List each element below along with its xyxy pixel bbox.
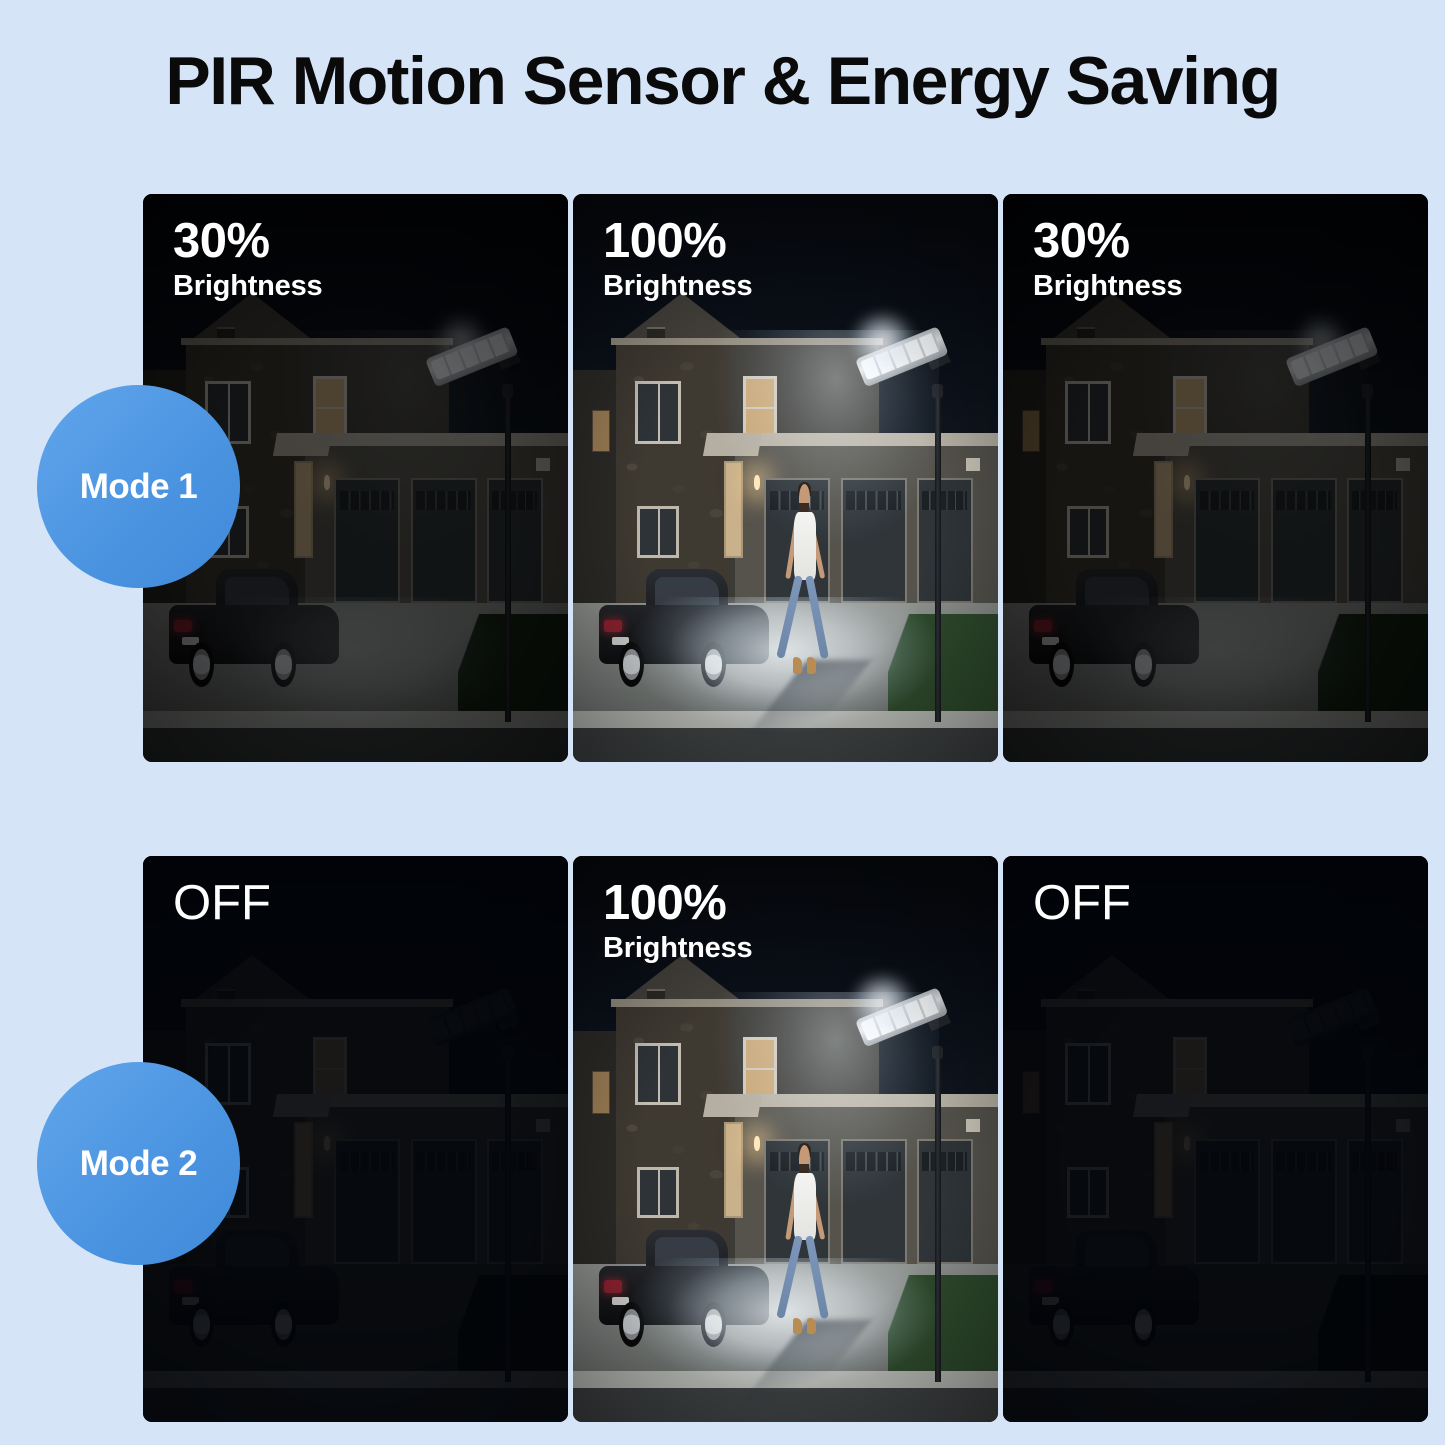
porch-lamp-icon <box>324 475 331 490</box>
garage-door <box>411 1139 477 1264</box>
lawn <box>1318 1275 1429 1371</box>
roof-line <box>181 999 453 1006</box>
upper-window-left <box>635 381 682 443</box>
night-scene <box>573 194 998 762</box>
street <box>1003 728 1428 762</box>
front-door <box>724 1122 744 1218</box>
front-door <box>294 461 314 558</box>
lamp-pole-cap <box>1362 1046 1373 1060</box>
garage-door <box>1194 1139 1260 1264</box>
car-window <box>655 577 720 609</box>
car-window <box>225 1237 290 1269</box>
porch-lamp-icon <box>324 1136 331 1151</box>
porch-lamp-icon <box>754 1136 761 1151</box>
garage-door <box>487 478 542 603</box>
roof-gable <box>620 293 744 341</box>
lamp-pole <box>505 1054 511 1382</box>
scenario-row-mode-1: 30% Brightness <box>143 194 1428 762</box>
car-wheel <box>271 642 297 687</box>
car-wheel <box>701 642 727 687</box>
garage-fascia <box>1160 1094 1428 1108</box>
lower-window <box>637 1167 680 1218</box>
mode-badge-label: Mode 1 <box>80 467 198 507</box>
garage-door <box>917 1139 972 1264</box>
roof-line <box>611 999 883 1006</box>
tail-light <box>604 620 623 632</box>
tail-light <box>1034 1280 1053 1292</box>
car-wheel <box>1131 642 1157 687</box>
roof-line <box>1041 999 1313 1006</box>
street <box>143 1388 568 1422</box>
person-boot <box>793 657 802 673</box>
car-wheel <box>189 1302 215 1347</box>
walking-person <box>786 484 824 688</box>
garage-fascia <box>300 433 568 447</box>
roof-line <box>611 338 883 345</box>
car-wheel <box>701 1302 727 1347</box>
person-shirt <box>794 1173 816 1240</box>
roof-line <box>1041 338 1313 345</box>
car-wheel <box>619 1302 645 1347</box>
upper-window-left <box>1065 1043 1112 1105</box>
roof-gable <box>620 955 744 1003</box>
lamp-pole <box>1365 1054 1371 1382</box>
porch-overhang <box>1133 1094 1192 1117</box>
lawn <box>888 1275 999 1371</box>
lamp-pole <box>1365 393 1371 722</box>
porch-overhang <box>703 1094 762 1117</box>
garage-fascia <box>730 433 998 447</box>
lawn <box>458 1275 569 1371</box>
tail-light <box>174 1280 193 1292</box>
porch-lamp-icon <box>754 475 761 490</box>
lower-window <box>1067 1167 1110 1218</box>
person-boot <box>793 1318 802 1334</box>
mode-badge-2: Mode 2 <box>37 1062 240 1265</box>
scene-tile: 30% Brightness <box>1003 194 1428 762</box>
tail-light <box>1034 620 1053 632</box>
wall-plate <box>1396 1119 1410 1131</box>
garage-door <box>1194 478 1260 603</box>
porch-overhang <box>703 433 762 456</box>
car-wheel <box>271 1302 297 1347</box>
neighbor-window <box>592 1071 610 1113</box>
scene-tile: 100% Brightness <box>573 856 998 1422</box>
walking-person <box>786 1145 824 1349</box>
night-scene <box>573 856 998 1422</box>
roof-gable <box>190 293 314 341</box>
porch-lamp-icon <box>1184 475 1191 490</box>
person-boot <box>807 1318 816 1334</box>
garage-fascia <box>1160 433 1428 447</box>
parked-car <box>169 569 339 683</box>
street <box>1003 1388 1428 1422</box>
lamp-pole-cap <box>932 384 943 398</box>
neighbor-window <box>592 410 610 453</box>
roof-line <box>181 338 453 345</box>
lawn <box>1318 614 1429 711</box>
wall-plate <box>1396 458 1410 470</box>
scene-tile: 100% Brightness <box>573 194 998 762</box>
mode-badge-1: Mode 1 <box>37 385 240 588</box>
wall-plate <box>966 1119 980 1131</box>
parked-car <box>599 569 769 683</box>
car-wheel <box>1049 642 1075 687</box>
upper-window-lit <box>743 376 777 441</box>
page-title: PIR Motion Sensor & Energy Saving <box>0 44 1445 119</box>
night-scene <box>1003 856 1428 1422</box>
garage-door <box>487 1139 542 1264</box>
lamp-pole <box>935 1054 941 1382</box>
front-door <box>294 1122 314 1218</box>
porch-overhang <box>273 433 332 456</box>
roof-gable <box>1050 293 1174 341</box>
front-door <box>724 461 744 558</box>
garage-door <box>1271 478 1337 603</box>
garage-door <box>334 1139 400 1264</box>
parked-car <box>1029 569 1199 683</box>
garage-fascia <box>730 1094 998 1108</box>
upper-window-lit <box>313 376 347 441</box>
garage-door <box>841 478 907 603</box>
person-shirt <box>794 512 816 579</box>
car-window <box>655 1237 720 1269</box>
neighbor-window <box>1022 1071 1040 1113</box>
wall-plate <box>536 1119 550 1131</box>
roof-gable <box>190 955 314 1003</box>
scene-tile: OFF <box>1003 856 1428 1422</box>
lamp-pole <box>505 393 511 722</box>
upper-window-lit <box>1173 1037 1207 1102</box>
porch-lamp-icon <box>1184 1136 1191 1151</box>
car-window <box>1085 1237 1150 1269</box>
garage-fascia <box>300 1094 568 1108</box>
wall-plate <box>966 458 980 470</box>
garage-door <box>1271 1139 1337 1264</box>
scenario-row-mode-2: OFF <box>143 856 1428 1422</box>
upper-window-lit <box>313 1037 347 1102</box>
car-window <box>1085 577 1150 609</box>
lawn <box>458 614 569 711</box>
front-door <box>1154 461 1174 558</box>
garage-door <box>841 1139 907 1264</box>
garage-door <box>1347 478 1402 603</box>
car-wheel <box>619 642 645 687</box>
car-wheel <box>1049 1302 1075 1347</box>
garage-door <box>917 478 972 603</box>
upper-window-lit <box>743 1037 777 1102</box>
tail-light <box>174 620 193 632</box>
car-window <box>225 577 290 609</box>
tail-light <box>604 1280 623 1292</box>
porch-overhang <box>1133 433 1192 456</box>
parked-car <box>599 1230 769 1343</box>
lamp-pole-cap <box>932 1046 943 1060</box>
porch-overhang <box>273 1094 332 1117</box>
upper-window-left <box>635 1043 682 1105</box>
street <box>143 728 568 762</box>
upper-window-left <box>1065 381 1112 443</box>
lamp-pole-cap <box>1362 384 1373 398</box>
person-boot <box>807 657 816 673</box>
lamp-pole-cap <box>502 1046 513 1060</box>
lawn <box>888 614 999 711</box>
neighbor-window <box>1022 410 1040 453</box>
car-wheel <box>1131 1302 1157 1347</box>
lamp-pole <box>935 393 941 722</box>
lower-window <box>1067 506 1110 557</box>
wall-plate <box>536 458 550 470</box>
garage-door <box>1347 1139 1402 1264</box>
lower-window <box>637 506 680 557</box>
roof-gable <box>1050 955 1174 1003</box>
front-door <box>1154 1122 1174 1218</box>
parked-car <box>1029 1230 1199 1343</box>
car-wheel <box>189 642 215 687</box>
mode-badge-label: Mode 2 <box>80 1144 198 1184</box>
night-scene <box>1003 194 1428 762</box>
garage-door <box>334 478 400 603</box>
garage-door <box>411 478 477 603</box>
lamp-pole-cap <box>502 384 513 398</box>
upper-window-lit <box>1173 376 1207 441</box>
